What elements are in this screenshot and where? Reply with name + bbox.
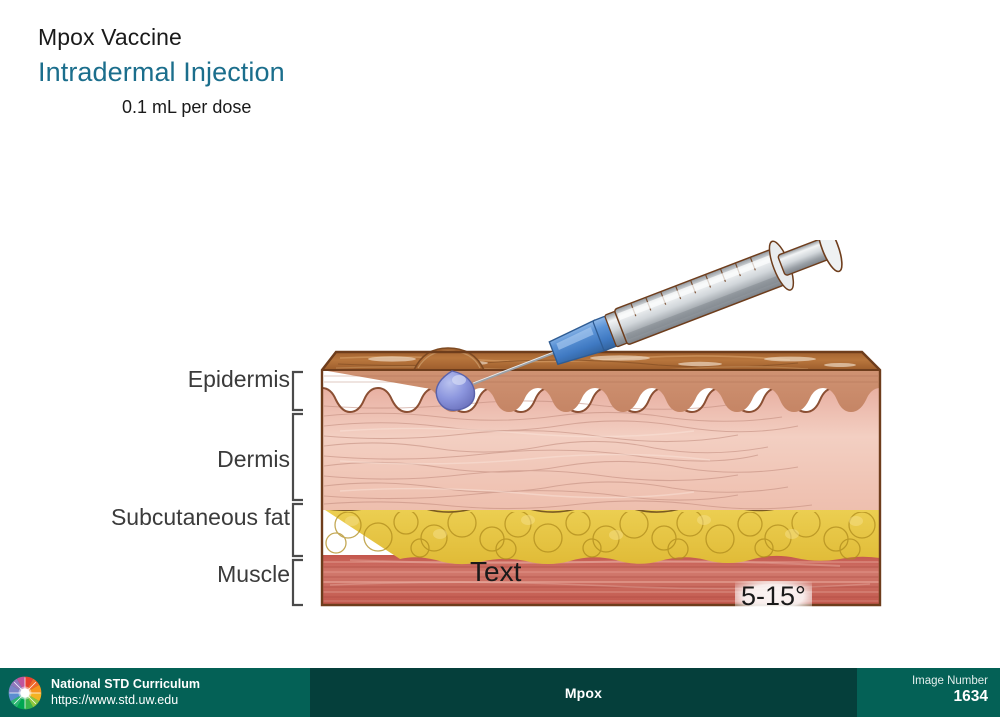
footer-organization: National STD Curriculum xyxy=(51,677,200,692)
illustration-container: Text 5-15° xyxy=(0,240,1000,640)
footer-url[interactable]: https://www.std.uw.edu xyxy=(51,692,200,708)
footer-bar: National STD Curriculum https://www.std.… xyxy=(0,668,1000,717)
layer-label-epidermis: Epidermis xyxy=(188,368,290,391)
nstd-sunburst-logo xyxy=(8,676,42,710)
layer-label-dermis: Dermis xyxy=(217,448,290,471)
footer-branding[interactable]: National STD Curriculum https://www.std.… xyxy=(0,668,310,717)
image-number-value: 1634 xyxy=(857,688,988,706)
slide-eyebrow: Mpox Vaccine xyxy=(38,22,285,52)
layer-label-subcutaneous-fat: Subcutaneous fat xyxy=(111,506,290,529)
image-number-caption: Image Number xyxy=(857,674,988,688)
subcutaneous-fat-layer xyxy=(322,504,880,564)
layer-brackets xyxy=(293,372,303,605)
footer-topic-section: Mpox xyxy=(310,668,857,717)
angle-annotation: 5-15° xyxy=(735,581,812,612)
text-annotation: Text xyxy=(470,558,521,586)
footer-topic: Mpox xyxy=(565,685,602,701)
slide-subtitle: 0.1 mL per dose xyxy=(122,94,285,120)
page-title: Intradermal Injection xyxy=(38,54,285,90)
footer-image-number-section: Image Number 1634 xyxy=(857,668,1000,717)
layer-label-muscle: Muscle xyxy=(217,563,290,586)
title-block: Mpox Vaccine Intradermal Injection 0.1 m… xyxy=(38,22,285,120)
